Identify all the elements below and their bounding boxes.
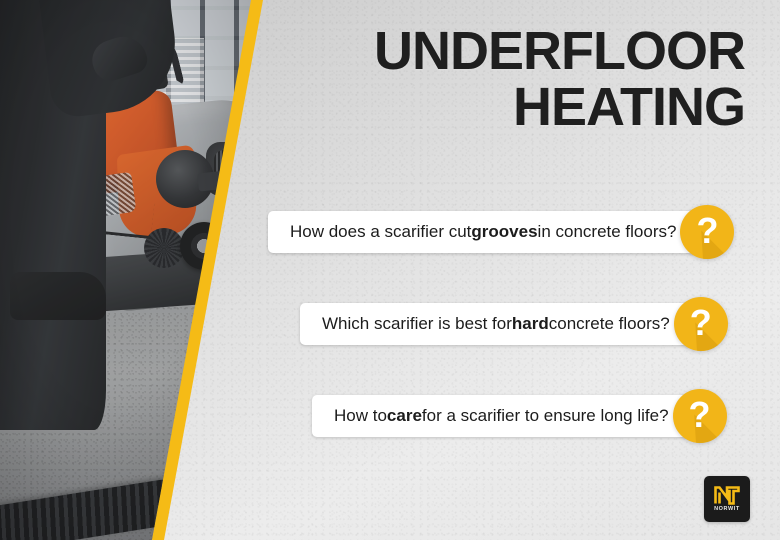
faq-question-1-before: How does a scarifier cut	[290, 222, 471, 242]
faq-question-2-before: Which scarifier is best for	[322, 314, 512, 334]
brand-wordmark: NORWIT	[714, 507, 740, 513]
question-mark-glyph: ?	[690, 305, 712, 341]
faq-question-3-after: for a scarifier to ensure long life?	[422, 406, 669, 426]
faq-question-1-after: in concrete floors?	[538, 222, 677, 242]
faq-question-3[interactable]: How to care for a scarifier to ensure lo…	[312, 395, 703, 437]
faq-item-2[interactable]: Which scarifier is best for hard concret…	[300, 295, 728, 353]
faq-item-1[interactable]: How does a scarifier cut grooves in conc…	[268, 203, 734, 261]
question-mark-icon[interactable]: ?	[673, 389, 727, 443]
question-mark-glyph: ?	[696, 213, 718, 249]
faq-question-3-highlight: care	[387, 406, 422, 426]
faq-question-1-highlight: grooves	[471, 222, 537, 242]
faq-question-2-highlight: hard	[512, 314, 549, 334]
brand-logo[interactable]: NORWIT	[704, 476, 750, 522]
nt-monogram-icon	[714, 486, 740, 505]
faq-item-3[interactable]: How to care for a scarifier to ensure lo…	[312, 387, 727, 445]
underfloor-heating-banner: UNDERFLOOR HEATING How does a scarifier …	[0, 0, 780, 540]
question-mark-icon[interactable]: ?	[674, 297, 728, 351]
question-mark-glyph: ?	[689, 397, 711, 433]
faq-question-2-after: concrete floors?	[549, 314, 670, 334]
page-title: UNDERFLOOR HEATING	[275, 24, 745, 135]
question-mark-icon[interactable]: ?	[680, 205, 734, 259]
faq-question-2[interactable]: Which scarifier is best for hard concret…	[300, 303, 704, 345]
faq-question-1[interactable]: How does a scarifier cut grooves in conc…	[268, 211, 710, 253]
faq-question-3-before: How to	[334, 406, 387, 426]
